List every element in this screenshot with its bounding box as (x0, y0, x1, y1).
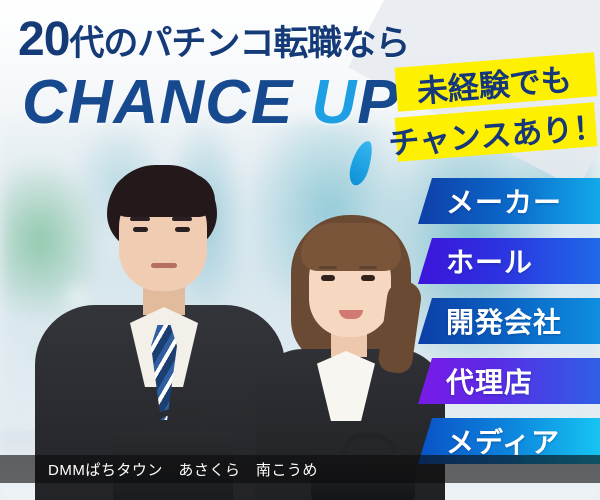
headline-tail: なら (341, 24, 409, 63)
female-fringe (301, 223, 401, 271)
category-label-agency: 代理店 (446, 361, 533, 401)
category-item-agency[interactable]: 代理店 (418, 358, 600, 404)
logo-chance: CHANCE (22, 68, 311, 137)
male-eye-right (175, 227, 190, 232)
male-eyebrow-left (130, 217, 150, 221)
male-eye-left (133, 227, 148, 232)
male-fringe (111, 173, 215, 217)
male-mouth (151, 263, 177, 268)
female-eye-left (321, 275, 335, 281)
chance-up-logo: CHANCE UP (22, 72, 400, 134)
recruitment-banner[interactable]: 20代のパチンコ転職なら CHANCE UP 未経験でも チャンスあり！ メーカ… (0, 0, 600, 500)
male-model-photo (35, 165, 285, 500)
male-eyebrow-right (172, 217, 192, 221)
logo-u: U (311, 68, 357, 137)
category-item-development-company[interactable]: 開発会社 (418, 298, 600, 344)
category-list: メーカー ホール 開発会社 代理店 メディア (418, 178, 600, 478)
headline-middle: 代のパチンコ転職 (69, 24, 341, 63)
headline-text: 20代のパチンコ転職なら (18, 16, 409, 64)
headline-number: 20 (18, 13, 69, 66)
category-label-maker: メーカー (446, 181, 562, 221)
category-label-hall: ホール (446, 241, 533, 281)
female-eyebrow-left (319, 266, 337, 269)
category-label-development-company: 開発会社 (446, 301, 562, 341)
caption-text: DMMぱちタウン あさくら 南こうめ (0, 459, 318, 480)
category-item-maker[interactable]: メーカー (418, 178, 600, 224)
category-item-hall[interactable]: ホール (418, 238, 600, 284)
female-eye-right (361, 275, 375, 281)
caption-bar: DMMぱちタウン あさくら 南こうめ (0, 455, 600, 483)
female-eyebrow-right (359, 266, 377, 269)
